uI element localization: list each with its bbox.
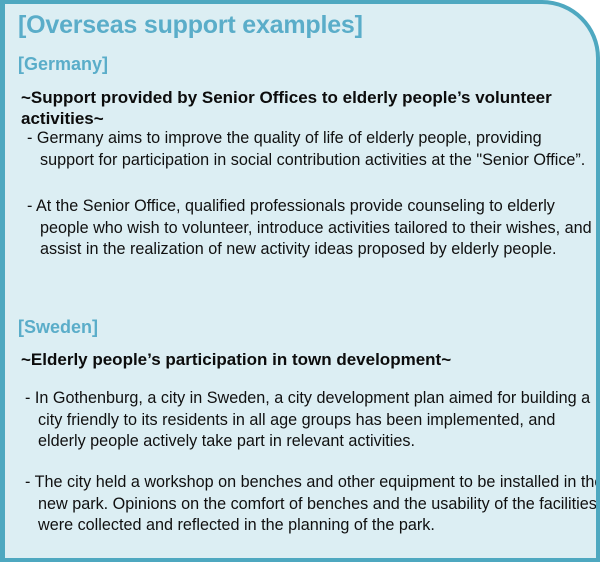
page-title: [Overseas support examples] xyxy=(18,11,363,40)
bullet-item: - At the Senior Office, qualified profes… xyxy=(27,196,600,261)
overseas-support-panel: [Overseas support examples] [Germany] ~S… xyxy=(0,0,600,562)
section-label-sweden: [Sweden] xyxy=(18,317,98,338)
bullet-item: - Germany aims to improve the quality of… xyxy=(27,128,598,171)
section-heading-sweden: ~Elderly people’s participation in town … xyxy=(21,350,591,371)
bullet-item: - In Gothenburg, a city in Sweden, a cit… xyxy=(25,388,600,453)
section-heading-germany: ~Support provided by Senior Offices to e… xyxy=(21,88,591,129)
section-label-germany: [Germany] xyxy=(18,54,108,75)
bullet-item: - The city held a workshop on benches an… xyxy=(25,472,600,537)
